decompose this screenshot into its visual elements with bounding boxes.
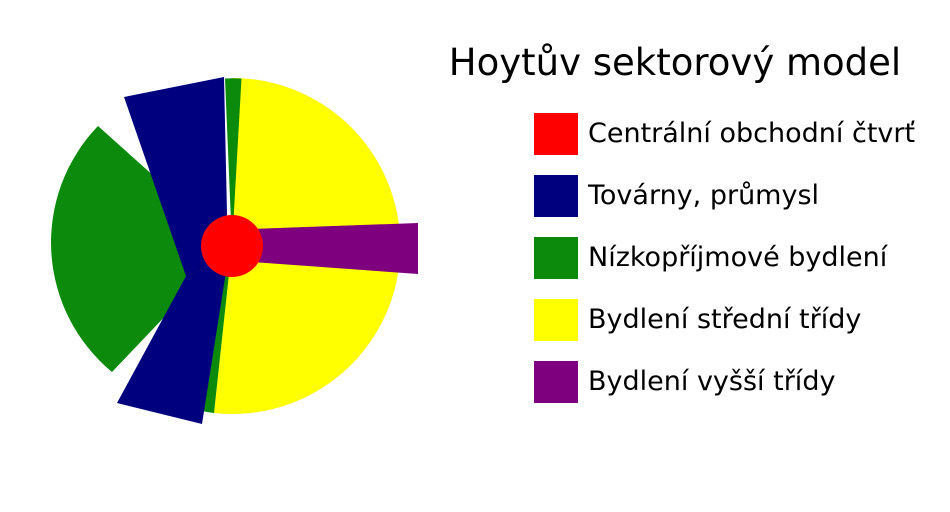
legend-label-low-income-housing: Nízkopříjmové bydlení: [588, 241, 887, 275]
legend-swatch-middle-class-housing: [534, 299, 578, 341]
legend-swatch-low-income-housing: [534, 237, 578, 279]
legend-swatch-upper-class-housing: [534, 361, 578, 403]
legend-label-central-business-district: Centrální obchodní čtvrť: [588, 117, 915, 151]
legend-swatch-factories-industry: [534, 175, 578, 217]
legend-swatch-central-business-district: [534, 113, 578, 155]
legend-item-upper-class-housing[interactable]: Bydlení vyšší třídy: [534, 361, 835, 403]
chart-title: Hoytův sektorový model: [430, 40, 920, 86]
sector-model-diagram: [0, 0, 460, 512]
legend-item-low-income-housing[interactable]: Nízkopříjmové bydlení: [534, 237, 887, 279]
hoyt-sector-model-figure: Hoytův sektorový model Centrální obchodn…: [0, 0, 950, 512]
legend-item-middle-class-housing[interactable]: Bydlení střední třídy: [534, 299, 861, 341]
legend: Hoytův sektorový model Centrální obchodn…: [430, 40, 950, 440]
legend-item-factories-industry[interactable]: Továrny, průmysl: [534, 175, 819, 217]
legend-label-upper-class-housing: Bydlení vyšší třídy: [588, 365, 835, 399]
sector-central-business-district: [201, 215, 263, 277]
legend-label-middle-class-housing: Bydlení střední třídy: [588, 303, 861, 337]
legend-item-central-business-district[interactable]: Centrální obchodní čtvrť: [534, 113, 915, 155]
legend-label-factories-industry: Továrny, průmysl: [588, 179, 819, 213]
